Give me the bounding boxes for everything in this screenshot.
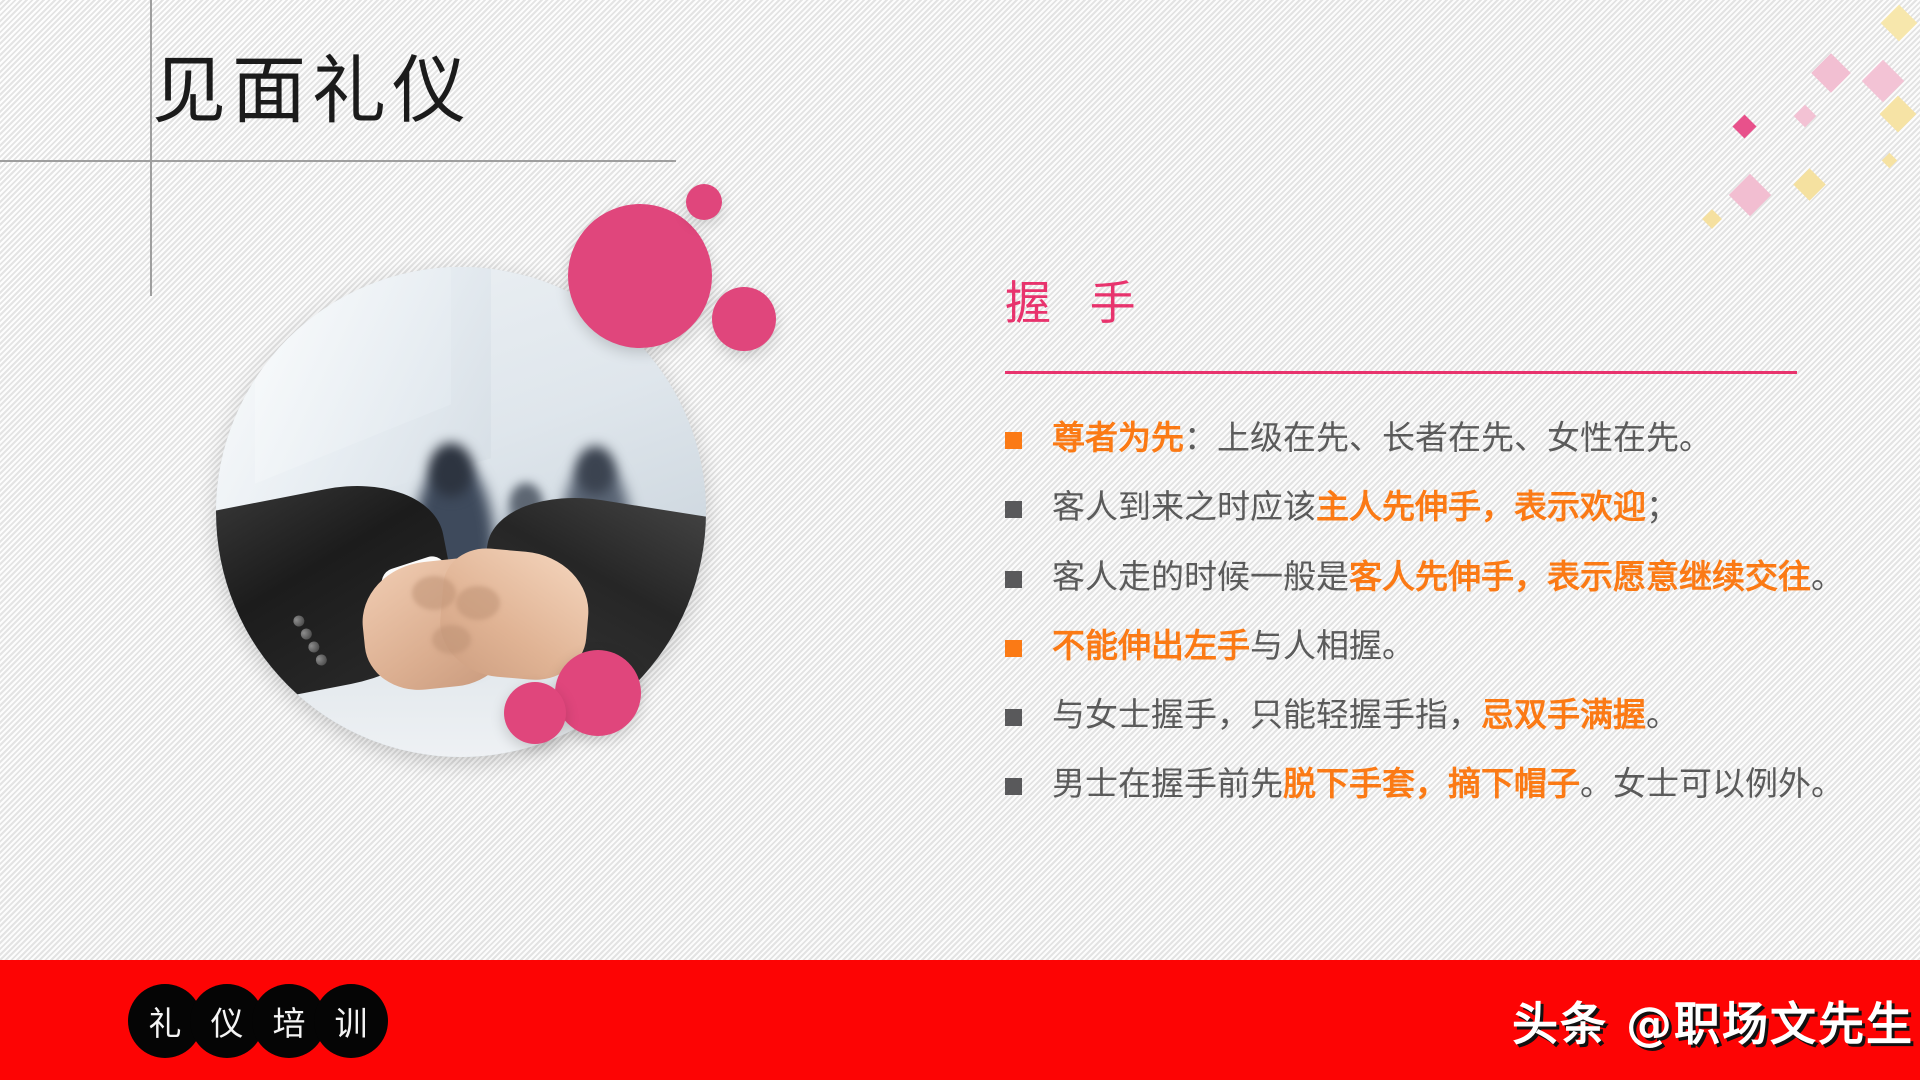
bullet-square-icon bbox=[1005, 709, 1022, 726]
bullet-text: 与女士握手，只能轻握手指，忌双手满握。 bbox=[1052, 697, 1679, 733]
footer-logo-circle: 训 bbox=[314, 984, 388, 1058]
section-divider bbox=[1005, 371, 1797, 374]
diamond-icon bbox=[1794, 105, 1817, 128]
bullet-item: 尊者为先：上级在先、长者在先、女性在先。 bbox=[1005, 420, 1920, 456]
decor-circle-medium bbox=[712, 287, 776, 351]
diamond-icon bbox=[1793, 168, 1826, 201]
content-panel: 握 手 尊者为先：上级在先、长者在先、女性在先。客人到来之时应该主人先伸手，表示… bbox=[1005, 280, 1920, 836]
bullet-item: 不能伸出左手与人相握。 bbox=[1005, 628, 1920, 664]
bullet-item: 客人走的时候一般是客人先伸手，表示愿意继续交往。 bbox=[1005, 559, 1920, 595]
plain-text: ：上级在先、长者在先、女性在先。 bbox=[1184, 418, 1712, 457]
plain-text: 。 bbox=[1646, 695, 1679, 734]
footer-bar: 礼仪培训 头条 @职场文先生 bbox=[0, 960, 1920, 1080]
page-title: 见面礼仪 bbox=[152, 34, 472, 149]
highlight-text: 客人先伸手，表示愿意继续交往 bbox=[1349, 557, 1811, 596]
bullet-square-icon bbox=[1005, 571, 1022, 588]
plain-text: ； bbox=[1646, 487, 1679, 526]
plain-text: 男士在握手前先 bbox=[1052, 764, 1283, 803]
decor-circle-bottom-large bbox=[555, 650, 641, 736]
bullet-text: 男士在握手前先脱下手套，摘下帽子。女士可以例外。 bbox=[1052, 766, 1844, 802]
brand-watermark: 头条 @职场文先生 bbox=[1512, 988, 1914, 1054]
diamond-icon bbox=[1881, 5, 1918, 42]
bullet-square-icon bbox=[1005, 501, 1022, 518]
highlight-text: 脱下手套，摘下帽子 bbox=[1283, 764, 1580, 803]
plain-text: 。女士可以例外。 bbox=[1580, 764, 1844, 803]
plain-text: 。 bbox=[1811, 557, 1844, 596]
plain-text: 客人到来之时应该 bbox=[1052, 487, 1316, 526]
highlight-text: 不能伸出左手 bbox=[1052, 626, 1250, 665]
bullet-item: 男士在握手前先脱下手套，摘下帽子。女士可以例外。 bbox=[1005, 766, 1920, 802]
bullet-square-icon bbox=[1005, 640, 1022, 657]
diamond-icon bbox=[1732, 114, 1756, 138]
bullet-text: 客人走的时候一般是客人先伸手，表示愿意继续交往。 bbox=[1052, 559, 1844, 595]
diamond-icon bbox=[1729, 174, 1771, 216]
bullet-square-icon bbox=[1005, 778, 1022, 795]
slide-canvas: 见面礼仪 握 手 尊者为先：上级在先、长者在先、女性在先。客人到来之时应该主人先… bbox=[0, 0, 1920, 1080]
highlight-text: 忌双手满握 bbox=[1481, 695, 1646, 734]
plain-text: 客人走的时候一般是 bbox=[1052, 557, 1349, 596]
plain-text: 与人相握。 bbox=[1250, 626, 1415, 665]
bullet-text: 尊者为先：上级在先、长者在先、女性在先。 bbox=[1052, 420, 1712, 456]
bullet-text: 客人到来之时应该主人先伸手，表示欢迎； bbox=[1052, 489, 1679, 525]
bullet-item: 与女士握手，只能轻握手指，忌双手满握。 bbox=[1005, 697, 1920, 733]
section-heading: 握 手 bbox=[1005, 280, 1920, 326]
footer-logo: 礼仪培训 bbox=[128, 984, 388, 1058]
highlight-text: 主人先伸手，表示欢迎 bbox=[1316, 487, 1646, 526]
diamond-icon bbox=[1811, 53, 1851, 93]
decor-circle-large bbox=[568, 204, 712, 348]
bullet-item: 客人到来之时应该主人先伸手，表示欢迎； bbox=[1005, 489, 1920, 525]
plain-text: 与女士握手，只能轻握手指， bbox=[1052, 695, 1481, 734]
bullet-list: 尊者为先：上级在先、长者在先、女性在先。客人到来之时应该主人先伸手，表示欢迎；客… bbox=[1005, 420, 1920, 803]
diamond-icon bbox=[1702, 209, 1722, 229]
diamond-icon bbox=[1880, 96, 1917, 133]
decor-circle-bottom-small bbox=[504, 682, 566, 744]
horizontal-guide-line bbox=[0, 160, 676, 162]
bullet-text: 不能伸出左手与人相握。 bbox=[1052, 628, 1415, 664]
diamond-icon bbox=[1882, 153, 1898, 169]
decor-circle-small bbox=[686, 184, 722, 220]
highlight-text: 尊者为先 bbox=[1052, 418, 1184, 457]
bullet-square-icon bbox=[1005, 432, 1022, 449]
